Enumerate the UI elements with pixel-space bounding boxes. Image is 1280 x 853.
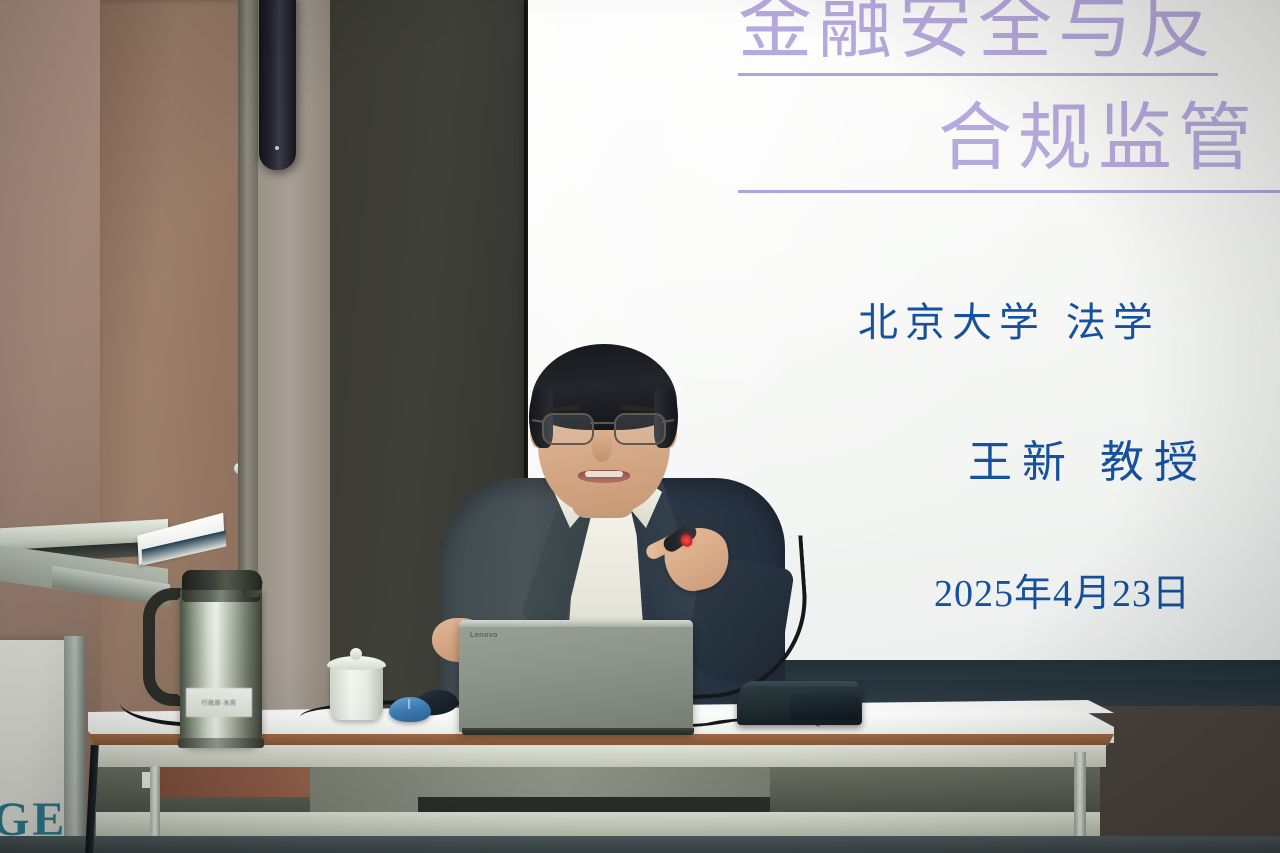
lens-left (542, 413, 594, 445)
background-wall-brown (150, 767, 310, 797)
nose (592, 434, 612, 462)
laptop-brand-logo: Lenovo (470, 632, 498, 639)
laptop-lid-top-edge (459, 620, 693, 627)
background-dark-band (418, 797, 770, 813)
glasses-temple-right (662, 419, 674, 423)
slide-title: 金融安全与反 合规监管 (738, 0, 1280, 193)
thermos-body[interactable] (180, 585, 262, 745)
slide-presenter: 王新 教授 (858, 426, 1280, 490)
glasses-temple-left (532, 419, 544, 423)
thermos-base (178, 738, 264, 748)
speaker-led-icon (275, 146, 279, 150)
wall-speaker-icon (259, 0, 296, 170)
glasses-bridge (590, 422, 616, 424)
slide-title-line1: 金融安全与反 (738, 0, 1218, 76)
computer-mouse[interactable] (389, 697, 431, 722)
slide-title-line2: 合规监管 (738, 90, 1280, 193)
microphone-base-rear (790, 694, 860, 720)
slide-organization: 北京大学 法学 (858, 290, 1280, 348)
laptop-base (462, 728, 694, 735)
table-lower-rail (96, 812, 1100, 836)
teeth (585, 471, 623, 477)
teacup-knob (350, 648, 362, 660)
mouse-scroll-wheel-icon[interactable] (408, 699, 410, 709)
thermos-lid[interactable] (182, 570, 262, 590)
thermos-label: 行政部·水房 (186, 688, 252, 717)
slide-body: 北京大学 法学 王新 教授 2025年4月23日 (858, 290, 1280, 617)
slide-date: 2025年4月23日 (858, 562, 1280, 617)
photograph-scene: 注意安全 金融安全与反 合规监管 北京大学 法学 王新 教授 2025年4月23… (0, 0, 1280, 853)
table-apron (96, 745, 1106, 767)
lens-right (614, 413, 666, 445)
teacup-body[interactable] (330, 664, 383, 720)
floor (0, 836, 1280, 853)
